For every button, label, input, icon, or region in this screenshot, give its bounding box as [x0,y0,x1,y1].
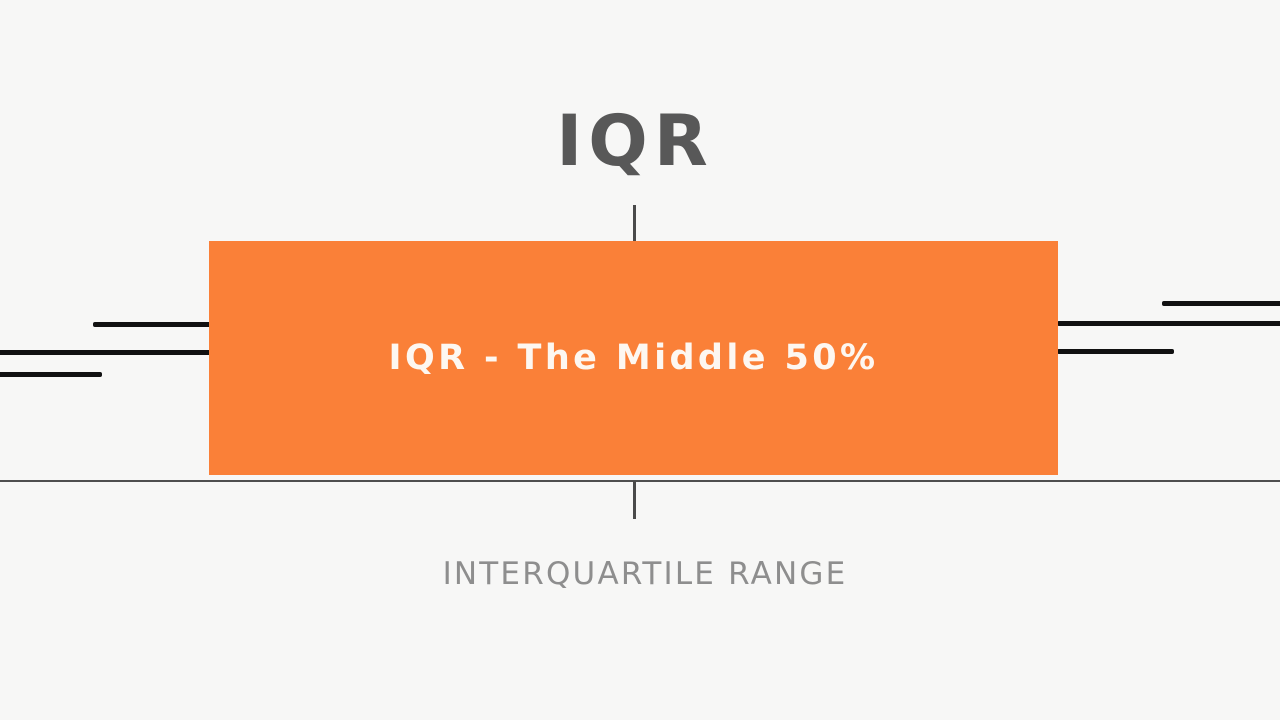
middle-right-whisker-rule [1057,321,1280,326]
baseline-axis [0,480,1280,482]
top-stem-connector [633,205,636,243]
lower-right-whisker-rule [1057,349,1174,354]
upper-left-whisker-rule [93,322,211,327]
lower-left-whisker-rule [0,372,102,377]
upper-right-whisker-rule [1162,301,1280,306]
iqr-box-label: IQR - The Middle 50% [389,338,879,378]
iqr-infographic-canvas: IQR IQR - The Middle 50% INTERQUARTILE R… [0,0,1280,720]
iqr-box: IQR - The Middle 50% [209,241,1058,475]
page-title: IQR [0,100,1270,182]
caption-label: INTERQUARTILE RANGE [0,556,1280,592]
bottom-stem-connector [633,481,636,519]
middle-left-whisker-rule [0,350,211,355]
